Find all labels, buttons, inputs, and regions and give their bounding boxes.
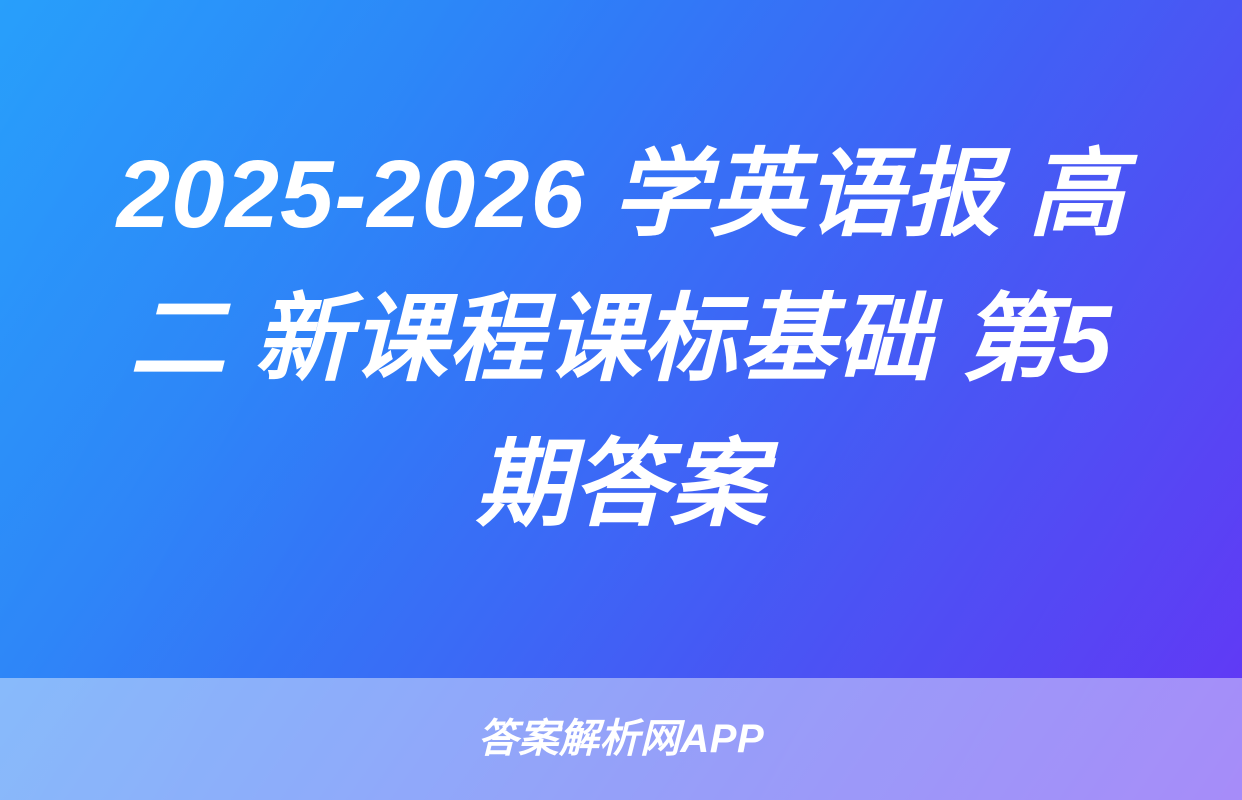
answer-cover-card: 2025-2026 学英语报 高 二 新课程课标基础 第5 期答案 答案解析网A… xyxy=(0,0,1242,800)
footer-watermark-bar: 答案解析网APP xyxy=(0,678,1242,800)
brand-watermark-label: 答案解析网APP xyxy=(478,719,764,759)
page-title: 2025-2026 学英语报 高 二 新课程课标基础 第5 期答案 xyxy=(56,122,1186,557)
hero-section: 2025-2026 学英语报 高 二 新课程课标基础 第5 期答案 xyxy=(0,0,1242,678)
